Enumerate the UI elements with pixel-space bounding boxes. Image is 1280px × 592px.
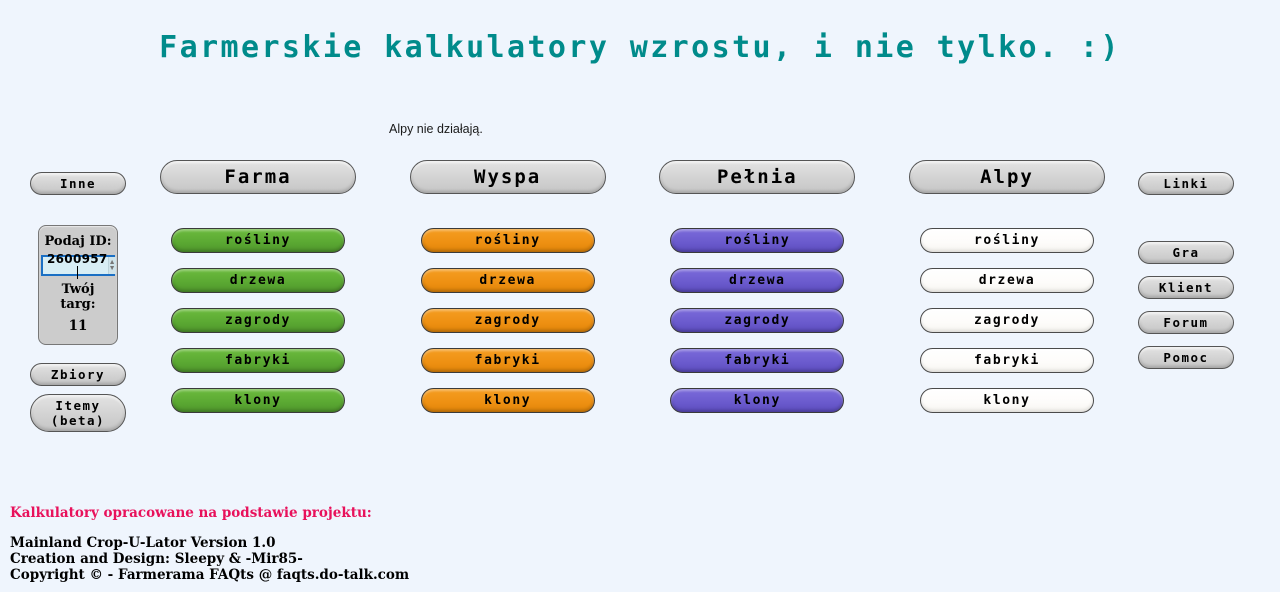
wyspa-button-drzewa[interactable]: drzewa: [421, 268, 595, 293]
sidebar-button-gra[interactable]: Gra: [1138, 241, 1234, 264]
sidebar-button-linki[interactable]: Linki: [1138, 172, 1234, 195]
alpy-button-drzewa[interactable]: drzewa: [920, 268, 1094, 293]
alpy-notice: Alpy nie działają.: [389, 122, 483, 136]
column-header-wyspa[interactable]: Wyspa: [410, 160, 606, 194]
credit-heading: Kalkulatory opracowane na podstawie proj…: [10, 505, 409, 521]
page-title: Farmerskie kalkulatory wzrostu, i nie ty…: [0, 0, 1280, 65]
sidebar-button-klient[interactable]: Klient: [1138, 276, 1234, 299]
farma-button-rosliny[interactable]: rośliny: [171, 228, 345, 253]
credit-line-2: Creation and Design: Sleepy & -Mir85-: [10, 551, 409, 567]
wyspa-button-rosliny[interactable]: rośliny: [421, 228, 595, 253]
column-farma: Farma rośliny drzewa zagrody fabryki klo…: [160, 160, 356, 428]
sidebar-button-itemy[interactable]: Itemy (beta): [30, 394, 126, 432]
column-header-farma[interactable]: Farma: [160, 160, 356, 194]
pelnia-button-zagrody[interactable]: zagrody: [670, 308, 844, 333]
id-panel: Podaj ID: 2600957 ▲ ▼ Twój targ: 11: [38, 225, 118, 345]
pelnia-button-fabryki[interactable]: fabryki: [670, 348, 844, 373]
pelnia-button-rosliny[interactable]: rośliny: [670, 228, 844, 253]
column-wyspa: Wyspa rośliny drzewa zagrody fabryki klo…: [410, 160, 606, 428]
sidebar-button-itemy-line2: (beta): [51, 413, 105, 428]
number-spinner[interactable]: ▲ ▼: [108, 257, 116, 274]
id-input-wrapper[interactable]: 2600957 ▲ ▼: [41, 255, 115, 276]
calculator-columns: Farma rośliny drzewa zagrody fabryki klo…: [160, 160, 1105, 428]
wyspa-button-fabryki[interactable]: fabryki: [421, 348, 595, 373]
wyspa-button-zagrody[interactable]: zagrody: [421, 308, 595, 333]
alpy-button-fabryki[interactable]: fabryki: [920, 348, 1094, 373]
sidebar-left: Inne Podaj ID: 2600957 ▲ ▼ Twój targ: 11…: [28, 172, 128, 432]
column-header-alpy[interactable]: Alpy: [909, 160, 1105, 194]
farma-button-zagrody[interactable]: zagrody: [171, 308, 345, 333]
wyspa-button-klony[interactable]: klony: [421, 388, 595, 413]
id-input-value[interactable]: 2600957: [43, 252, 108, 280]
column-alpy: Alpy rośliny drzewa zagrody fabryki klon…: [909, 160, 1105, 428]
farma-button-fabryki[interactable]: fabryki: [171, 348, 345, 373]
sidebar-button-itemy-line1: Itemy: [55, 398, 100, 413]
sidebar-button-inne[interactable]: Inne: [30, 172, 126, 195]
id-input-text: 2600957: [47, 252, 108, 266]
sidebar-button-zbiory[interactable]: Zbiory: [30, 363, 126, 386]
alpy-button-rosliny[interactable]: rośliny: [920, 228, 1094, 253]
alpy-button-zagrody[interactable]: zagrody: [920, 308, 1094, 333]
pelnia-button-klony[interactable]: klony: [670, 388, 844, 413]
sidebar-button-pomoc[interactable]: Pomoc: [1138, 346, 1234, 369]
chevron-down-icon[interactable]: ▼: [109, 266, 116, 272]
column-pelnia: Pełnia rośliny drzewa zagrody fabryki kl…: [659, 160, 855, 428]
sidebar-button-forum[interactable]: Forum: [1138, 311, 1234, 334]
alpy-button-klony[interactable]: klony: [920, 388, 1094, 413]
farma-button-drzewa[interactable]: drzewa: [171, 268, 345, 293]
text-caret: [77, 266, 78, 279]
id-label: Podaj ID:: [43, 234, 113, 249]
targ-label: Twój targ:: [43, 282, 113, 312]
credit-line-1: Mainland Crop-U-Lator Version 1.0: [10, 535, 409, 551]
pelnia-button-drzewa[interactable]: drzewa: [670, 268, 844, 293]
footer-credits: Kalkulatory opracowane na podstawie proj…: [10, 505, 409, 583]
sidebar-right: Linki Gra Klient Forum Pomoc: [1138, 172, 1234, 381]
column-header-pelnia[interactable]: Pełnia: [659, 160, 855, 194]
farma-button-klony[interactable]: klony: [171, 388, 345, 413]
credit-line-3: Copyright © - Farmerama FAQts @ faqts.do…: [10, 567, 409, 583]
targ-value: 11: [43, 318, 113, 334]
